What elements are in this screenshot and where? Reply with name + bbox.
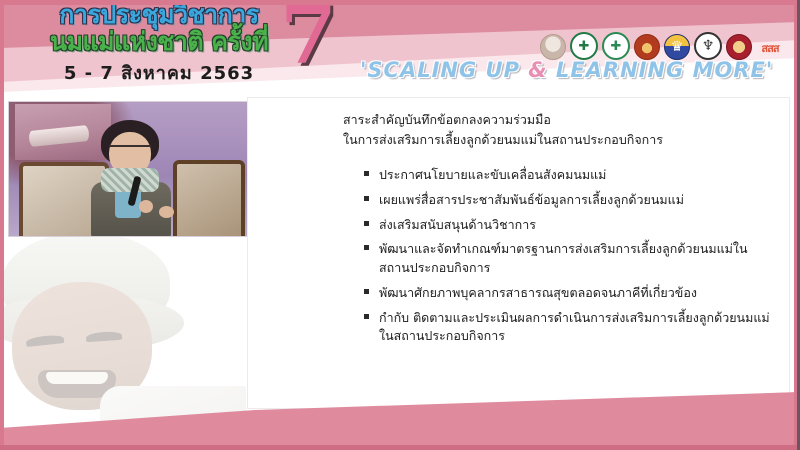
- conference-title-line1: การประชุมวิชาการ: [14, 2, 304, 28]
- logo-royal-seal-icon: [540, 34, 566, 60]
- frame-border-bottom: [0, 445, 800, 450]
- list-item: ส่งเสริมสนับสนุนด้านวิชาการ: [364, 216, 774, 235]
- frame-border-top: [0, 0, 800, 5]
- speaker-hand-right: [159, 206, 174, 218]
- list-item: เผยแพร่สื่อสารประชาสัมพันธ์ข้อมูลการเลี้…: [364, 191, 774, 210]
- speaker-hand-left: [139, 200, 153, 213]
- content-lead: สาระสำคัญบันทึกข้อตกลงความร่วมมือ ในการส…: [343, 110, 773, 151]
- slogan-part-before: 'SCALING UP: [360, 58, 528, 82]
- frame-border-left: [0, 0, 4, 450]
- child-photo-watermark: [4, 236, 246, 432]
- presentation-slide: การประชุมวิชาการ นมแม่แห่งชาติ ครั้งที่ …: [0, 0, 800, 450]
- child-teeth: [46, 372, 108, 384]
- conference-title-line2: นมแม่แห่งชาติ ครั้งที่: [14, 29, 304, 55]
- content-lead-line2: ในการส่งเสริมการเลี้ยงลูกด้วยนมแม่ในสถาน…: [343, 130, 773, 150]
- slogan-ampersand: &: [528, 58, 547, 82]
- logo-ministry-public-health-2-icon: ✚: [602, 32, 630, 60]
- content-bullet-list: ประกาศนโยบายและขับเคลื่อนสังคมนมแม่ เผยแ…: [364, 166, 774, 352]
- list-item: ประกาศนโยบายและขับเคลื่อนสังคมนมแม่: [364, 166, 774, 185]
- conference-slogan: 'SCALING UP & LEARNING MORE': [360, 58, 773, 82]
- speaker-glasses: [109, 145, 151, 156]
- edition-number: 7: [280, 0, 337, 76]
- slogan-part-after: LEARNING MORE': [548, 58, 774, 82]
- speaker-video[interactable]: [8, 101, 248, 237]
- backdrop-teeth-graphic: [28, 125, 89, 147]
- content-lead-line1: สาระสำคัญบันทึกข้อตกลงความร่วมมือ: [343, 110, 773, 130]
- logo-ministry-public-health-1-icon: ✚: [570, 32, 598, 60]
- organizer-logos: ✚ ✚ ♛ ♆ สสส: [540, 26, 784, 60]
- conference-title-block: การประชุมวิชาการ นมแม่แห่งชาติ ครั้งที่ …: [14, 2, 304, 87]
- list-item: กำกับ ติดตามและประเมินผลการดำเนินการส่งเ…: [364, 309, 774, 347]
- logo-black-circle-emblem-icon: ♆: [694, 32, 722, 60]
- logo-thai-emblem-red-icon: [634, 34, 660, 60]
- logo-red-crest-icon: [726, 34, 752, 60]
- speaker-figure: [87, 120, 175, 236]
- conference-date: 5 - 7 สิงหาคม 2563: [14, 58, 304, 87]
- logo-sss-icon: สสส: [756, 36, 784, 60]
- chair-right: [173, 160, 245, 237]
- list-item: พัฒนาและจัดทำเกณฑ์มาตรฐานการส่งเสริมการเ…: [364, 240, 774, 278]
- list-item: พัฒนาศักยภาพบุคลากรสาธารณสุขตลอดจนภาคีที…: [364, 284, 774, 303]
- logo-garuda-blue-icon: ♛: [664, 34, 690, 60]
- speaker-scarf: [101, 168, 159, 192]
- slide-content-panel: สาระสำคัญบันทึกข้อตกลงความร่วมมือ ในการส…: [247, 97, 790, 409]
